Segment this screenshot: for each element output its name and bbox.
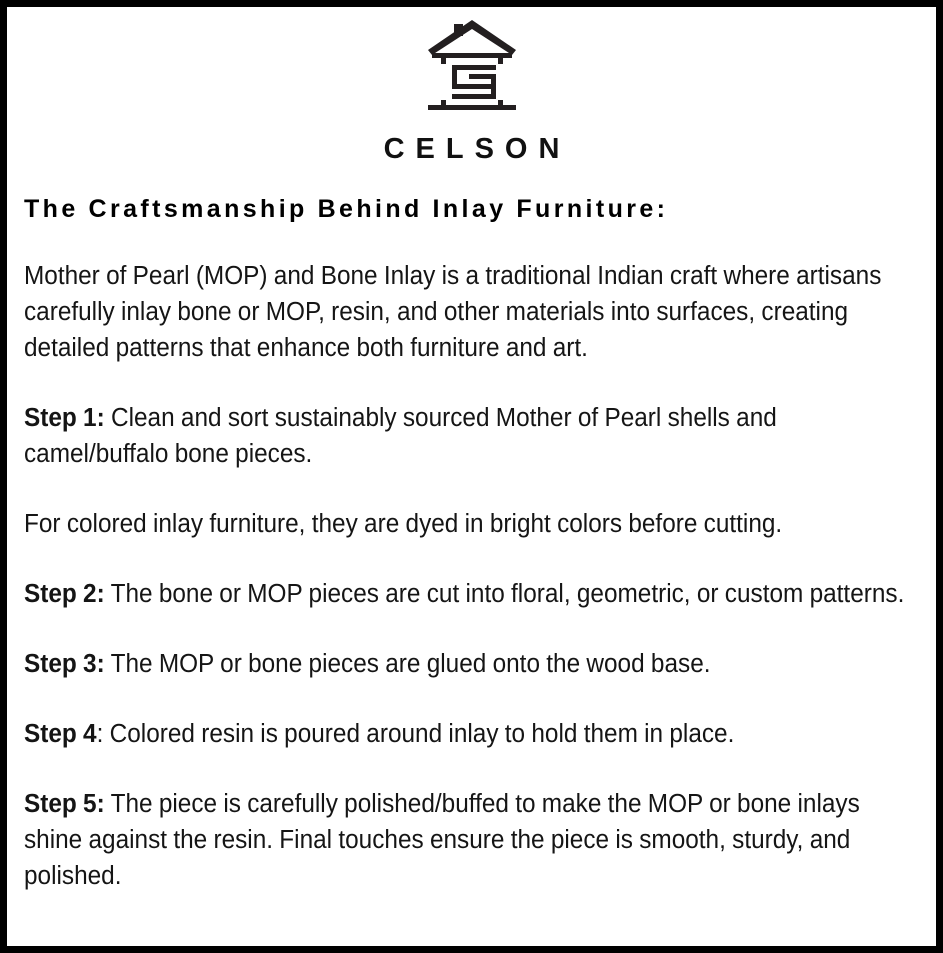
step-4-text: : Colored resin is poured around inlay t…	[97, 720, 735, 748]
spacer	[24, 542, 920, 576]
brand-wordmark: CELSON	[7, 135, 936, 164]
spacer	[24, 682, 920, 716]
brand-header: CELSON	[7, 7, 936, 164]
house-monogram-logo-icon	[424, 16, 520, 116]
step-2-paragraph: Step 2: The bone or MOP pieces are cut i…	[24, 576, 918, 612]
step-5-paragraph: Step 5: The piece is carefully polished/…	[24, 786, 918, 894]
step-4-paragraph: Step 4: Colored resin is poured around i…	[24, 716, 918, 752]
step-3-label: Step 3:	[24, 650, 105, 678]
spacer	[24, 224, 920, 258]
step-1-paragraph: Step 1: Clean and sort sustainably sourc…	[24, 400, 918, 472]
intro-paragraph: Mother of Pearl (MOP) and Bone Inlay is …	[24, 258, 918, 366]
step-1-text: Clean and sort sustainably sourced Mothe…	[24, 404, 777, 468]
spacer	[24, 752, 920, 786]
step-3-text: The MOP or bone pieces are glued onto th…	[105, 650, 711, 678]
spacer	[24, 612, 920, 646]
step-5-label: Step 5:	[24, 790, 105, 818]
page-title: The Craftsmanship Behind Inlay Furniture…	[24, 194, 920, 224]
step-5-text: The piece is carefully polished/buffed t…	[24, 790, 860, 890]
step-1-label: Step 1:	[24, 404, 105, 432]
spacer	[24, 366, 920, 400]
step-2-label: Step 2:	[24, 580, 105, 608]
step-3-paragraph: Step 3: The MOP or bone pieces are glued…	[24, 646, 918, 682]
step-2-text: The bone or MOP pieces are cut into flor…	[105, 580, 905, 608]
poster-card: CELSON The Craftsmanship Behind Inlay Fu…	[0, 0, 943, 953]
spacer	[24, 472, 920, 506]
note-paragraph: For colored inlay furniture, they are dy…	[24, 506, 918, 542]
step-4-label: Step 4	[24, 720, 97, 748]
poster-content: The Craftsmanship Behind Inlay Furniture…	[7, 194, 936, 894]
